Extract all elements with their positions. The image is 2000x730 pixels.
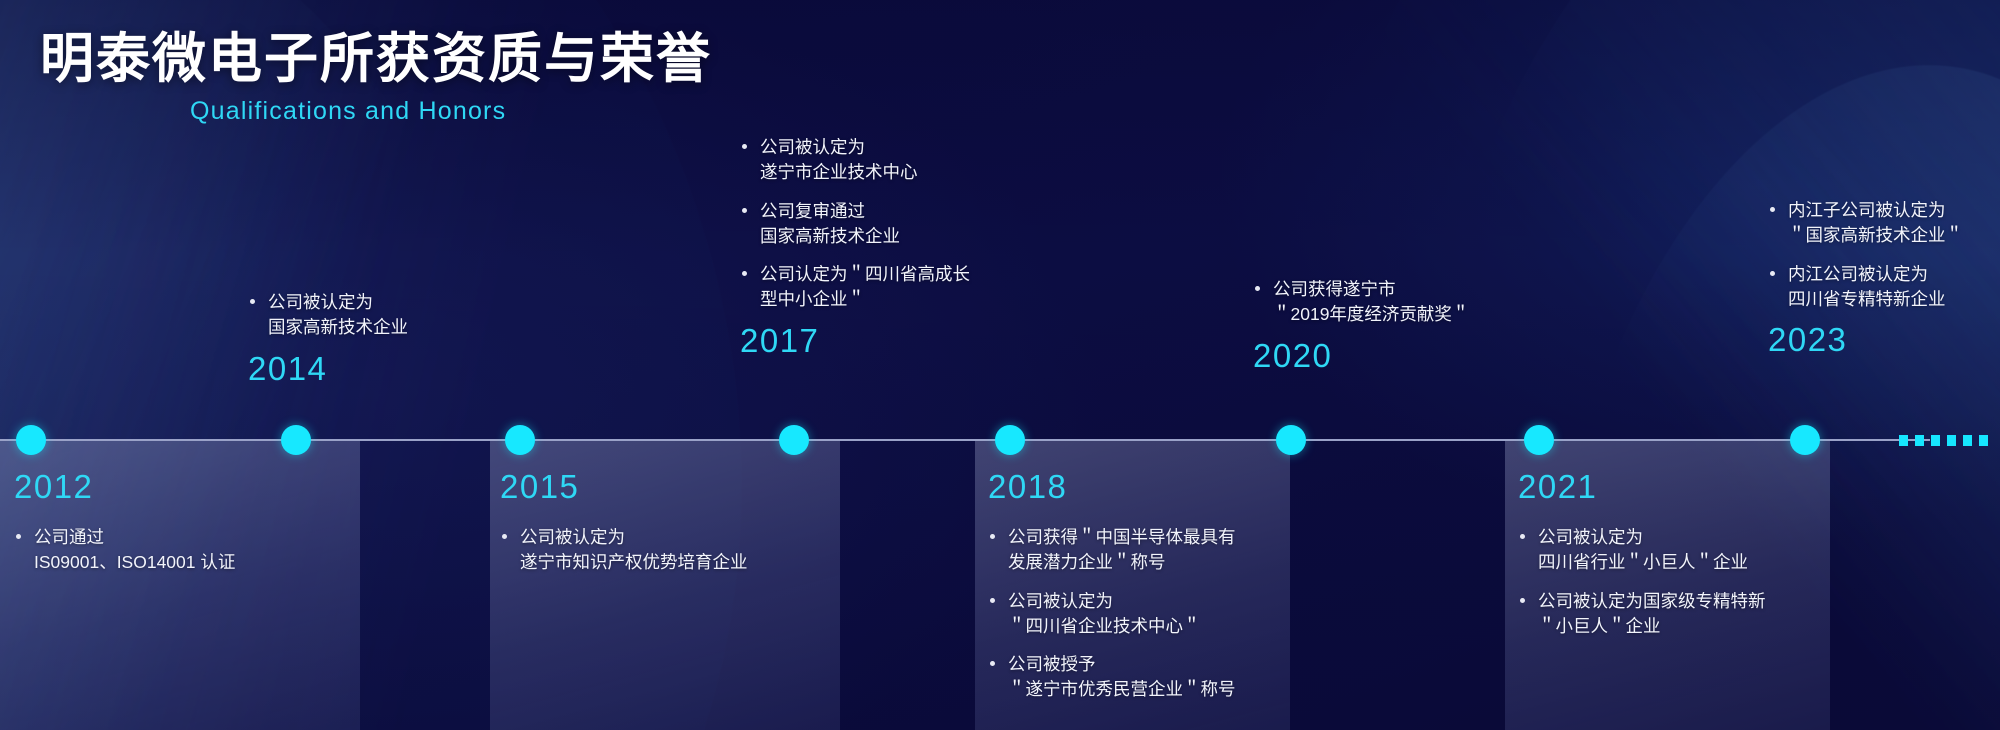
year-label-2021: 2021 [1518,470,1818,503]
bullet-item: 公司被认定为 ＂四川省企业技术中心＂ [988,589,1278,639]
year-label-2023: 2023 [1768,323,2000,356]
bullet-list-2020: 公司获得遂宁市 ＂2019年度经济贡献奖＂ [1253,277,1543,327]
year-label-2020: 2020 [1253,339,1543,372]
bullet-item: 内江子公司被认定为 ＂国家高新技术企业＂ [1768,198,2000,248]
header: 明泰微电子所获资质与荣誉 Qualifications and Honors [40,30,712,126]
bullet-item: 公司被授予 ＂遂宁市优秀民营企业＂称号 [988,652,1278,702]
bullet-list-2017: 公司被认定为 遂宁市企业技术中心 公司复审通过 国家高新技术企业 公司认定为＂四… [740,135,1040,312]
timeline-dot-2020[interactable] [1276,425,1306,455]
bullet-item: 公司复审通过 国家高新技术企业 [740,199,1040,249]
timeline-entry-2014[interactable]: 公司被认定为 国家高新技术企业 2014 [248,290,508,385]
timeline-dot-2021[interactable] [1524,425,1554,455]
timeline-entry-2020[interactable]: 公司获得遂宁市 ＂2019年度经济贡献奖＂ 2020 [1253,277,1543,372]
timeline-entry-2012[interactable]: 2012 公司通过 IS09001、ISO14001 认证 [14,470,304,575]
timeline-entry-2018[interactable]: 2018 公司获得＂中国半导体最具有 发展潜力企业＂称号 公司被认定为 ＂四川省… [988,470,1278,702]
bullet-item: 公司被认定为国家级专精特新 ＂小巨人＂企业 [1518,589,1818,639]
bullet-list-2018: 公司获得＂中国半导体最具有 发展潜力企业＂称号 公司被认定为 ＂四川省企业技术中… [988,525,1278,702]
page-subtitle: Qualifications and Honors [190,97,712,126]
timeline-entry-2021[interactable]: 2021 公司被认定为 四川省行业＂小巨人＂企业 公司被认定为国家级专精特新 ＂… [1518,470,1818,638]
year-label-2018: 2018 [988,470,1278,503]
bullet-item: 公司获得＂中国半导体最具有 发展潜力企业＂称号 [988,525,1278,575]
bullet-list-2012: 公司通过 IS09001、ISO14001 认证 [14,525,304,575]
timeline-dot-2018[interactable] [995,425,1025,455]
slide-canvas: 明泰微电子所获资质与荣誉 Qualifications and Honors 公… [0,0,2000,730]
bullet-item: 内江公司被认定为 四川省专精特新企业 [1768,262,2000,312]
year-label-2014: 2014 [248,352,508,385]
timeline-entry-2017[interactable]: 公司被认定为 遂宁市企业技术中心 公司复审通过 国家高新技术企业 公司认定为＂四… [740,135,1040,357]
timeline-dot-2014[interactable] [281,425,311,455]
year-label-2017: 2017 [740,324,1040,357]
timeline-dot-2015[interactable] [505,425,535,455]
bullet-list-2015: 公司被认定为 遂宁市知识产权优势培育企业 [500,525,775,575]
timeline-entry-2023[interactable]: 内江子公司被认定为 ＂国家高新技术企业＂ 内江公司被认定为 四川省专精特新企业 … [1768,198,2000,356]
timeline-dot-2017[interactable] [779,425,809,455]
bullet-item: 公司被认定为 国家高新技术企业 [248,290,508,340]
timeline-entry-2015[interactable]: 2015 公司被认定为 遂宁市知识产权优势培育企业 [500,470,775,575]
page-title: 明泰微电子所获资质与荣誉 [40,30,712,89]
bullet-item: 公司通过 IS09001、ISO14001 认证 [14,525,304,575]
bullet-item: 公司被认定为 遂宁市企业技术中心 [740,135,1040,185]
bullet-item: 公司被认定为 遂宁市知识产权优势培育企业 [500,525,775,575]
year-label-2012: 2012 [14,470,304,503]
bullet-list-2021: 公司被认定为 四川省行业＂小巨人＂企业 公司被认定为国家级专精特新 ＂小巨人＂企… [1518,525,1818,638]
bullet-item: 公司获得遂宁市 ＂2019年度经济贡献奖＂ [1253,277,1543,327]
timeline-dot-2023[interactable] [1790,425,1820,455]
bullet-list-2023: 内江子公司被认定为 ＂国家高新技术企业＂ 内江公司被认定为 四川省专精特新企业 [1768,198,2000,311]
bullet-item: 公司认定为＂四川省高成长 型中小企业＂ [740,262,1040,312]
year-label-2015: 2015 [500,470,775,503]
timeline-dot-2012[interactable] [16,425,46,455]
bullet-list-2014: 公司被认定为 国家高新技术企业 [248,290,508,340]
timeline-axis-dashes [1899,435,1988,446]
bullet-item: 公司被认定为 四川省行业＂小巨人＂企业 [1518,525,1818,575]
